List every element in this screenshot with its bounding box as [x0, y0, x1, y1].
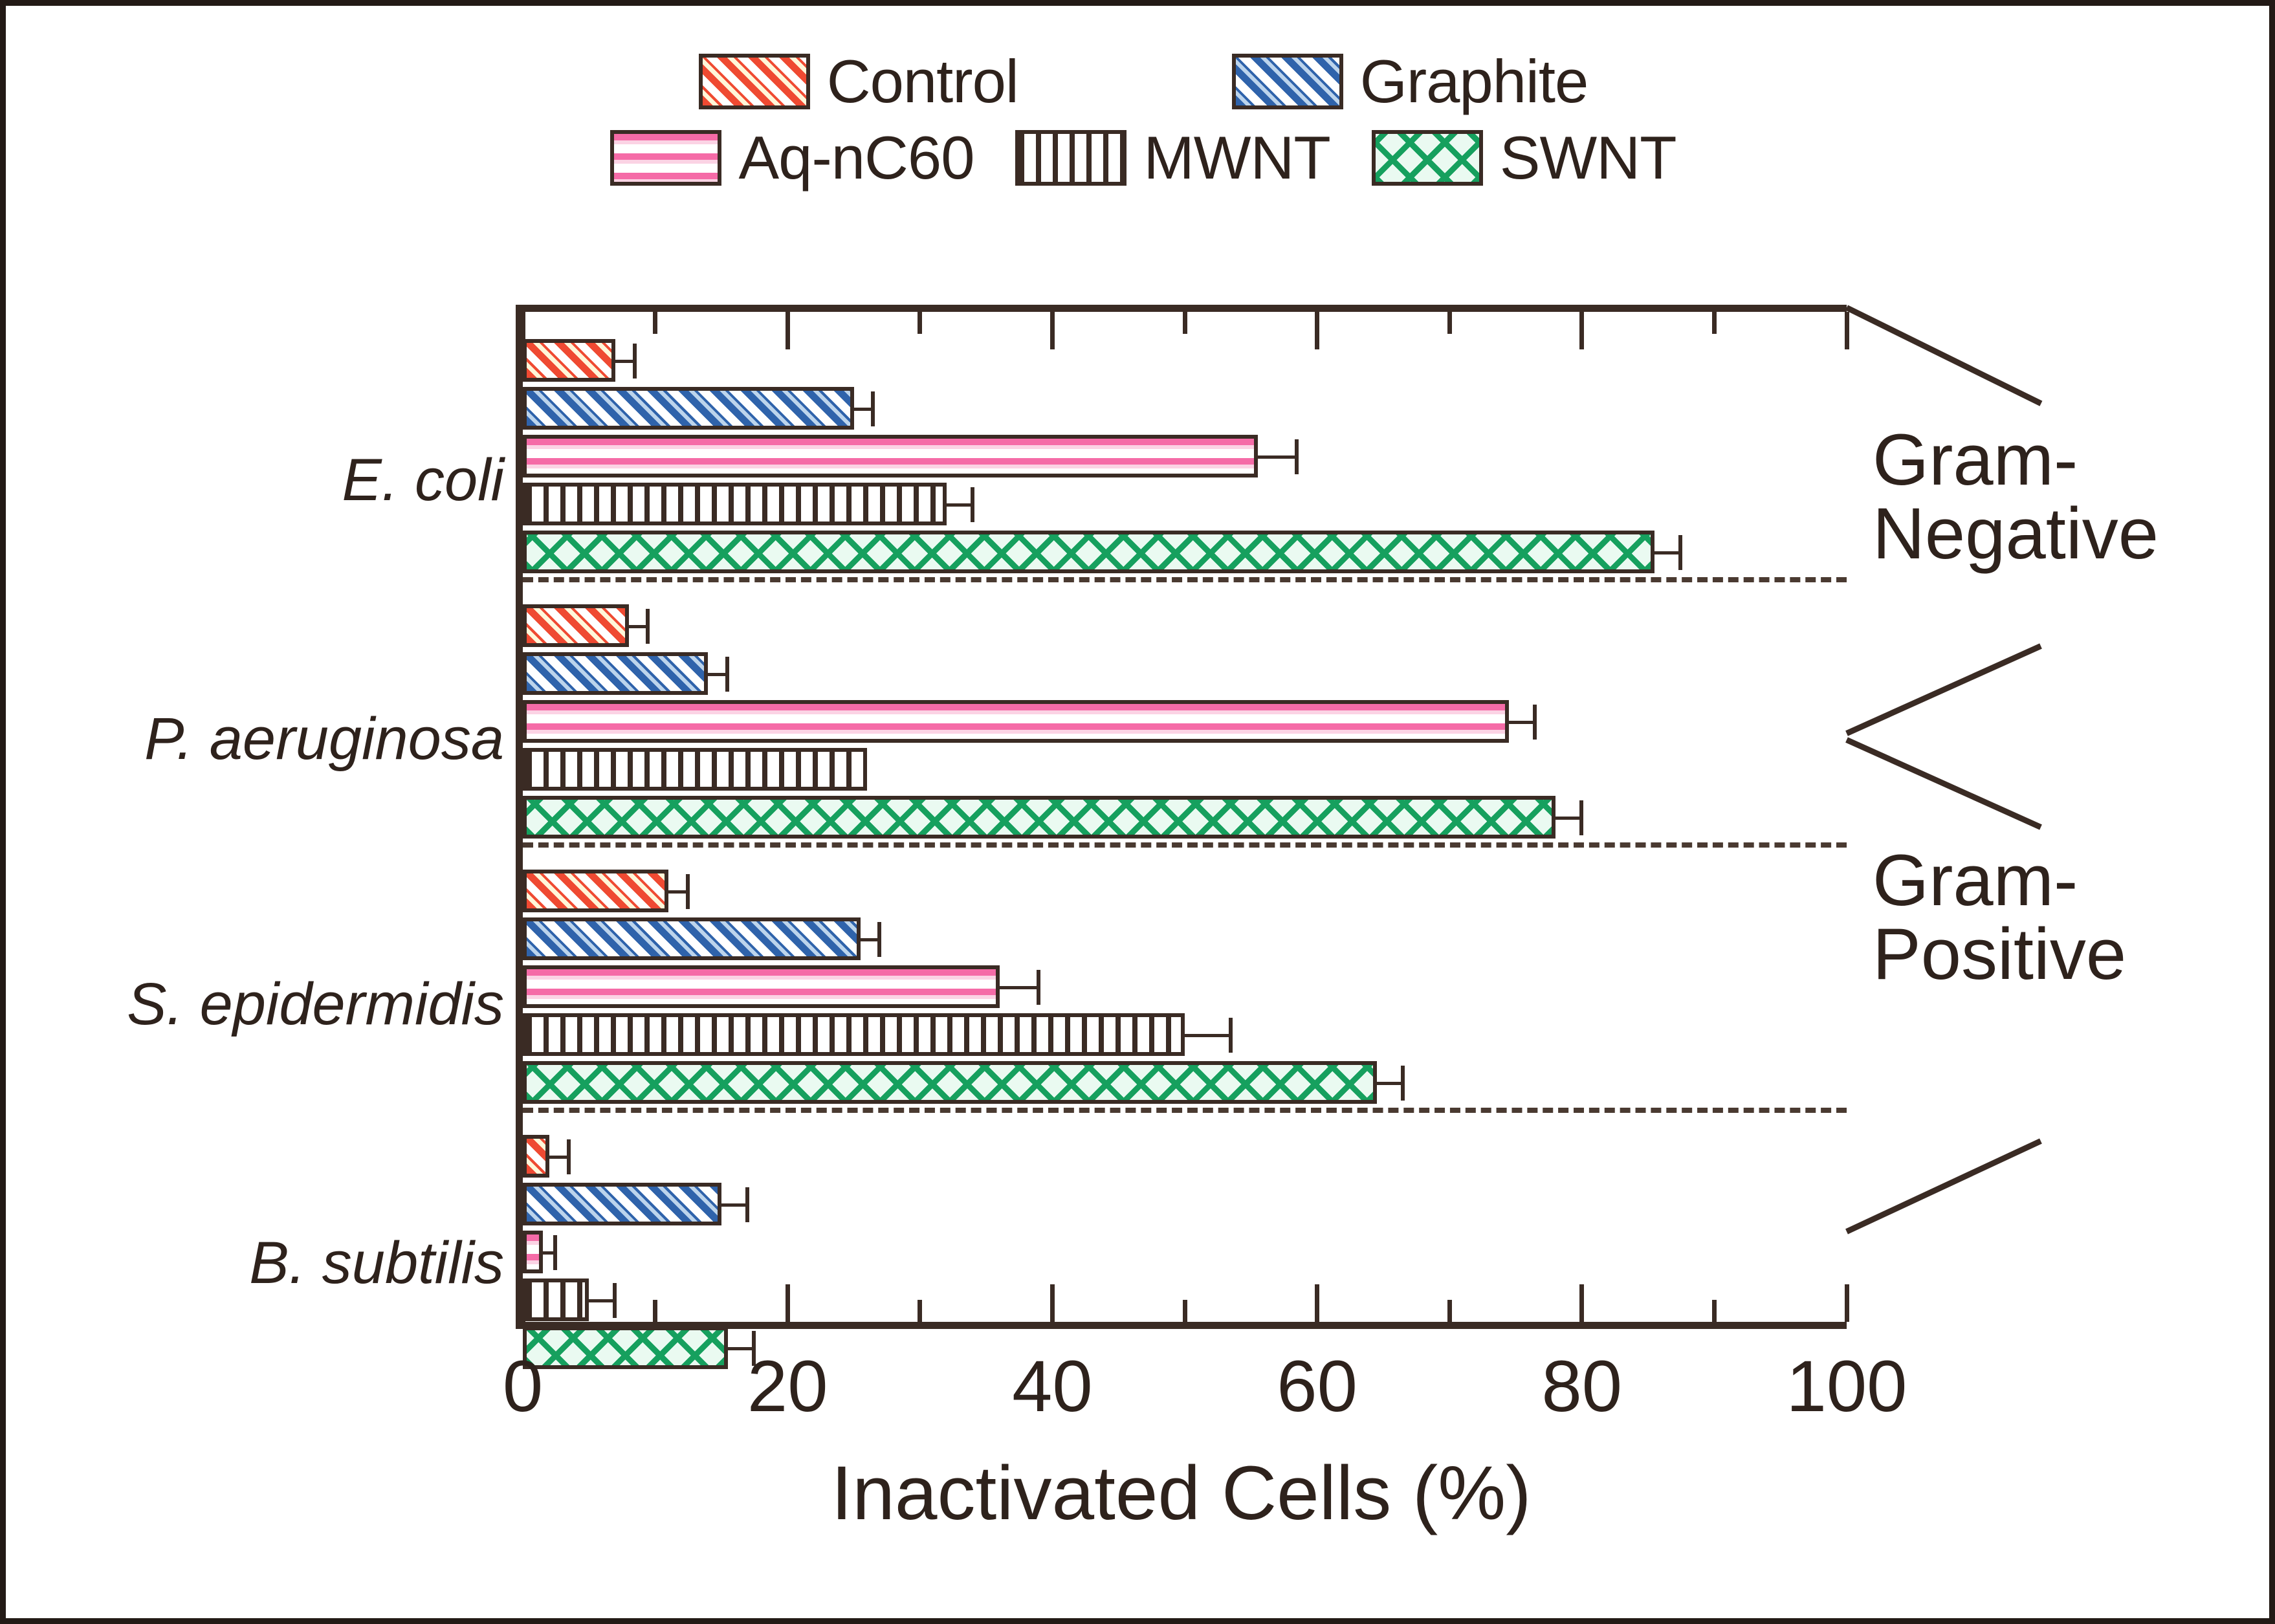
error-bar-line — [705, 673, 725, 676]
legend-swatch-mwnt-icon — [1015, 130, 1127, 186]
bar-group-e-coli — [523, 336, 1847, 576]
bar-graphite — [523, 652, 708, 695]
brace-line-gram-negative-upper — [1845, 305, 2042, 406]
legend-row-2: Aq-nC60 MWNT SWNT — [6, 127, 2275, 188]
legend-label-graphite: Graphite — [1360, 51, 1588, 112]
bar-group-s-epidermidis — [523, 867, 1847, 1106]
legend-item-swnt: SWNT — [1372, 127, 1676, 188]
gram-group-braces: Gram-Negative Gram-Positive — [1847, 291, 2274, 1339]
bar-row — [523, 384, 1847, 432]
x-axis-title: Inactivated Cells (%) — [516, 1455, 1847, 1531]
legend-label-control: Control — [827, 51, 1018, 112]
brace-line-gram-positive-upper — [1845, 737, 2042, 829]
y-label-b-subtilis: B. subtilis — [249, 1233, 504, 1293]
legend-item-graphite: Graphite — [1232, 51, 1588, 112]
error-bar-cap — [553, 1235, 557, 1270]
legend-item-aq-nc60: Aq-nC60 — [610, 127, 974, 188]
gram-negative-line1: Gram- — [1873, 419, 2078, 500]
y-axis-labels: E. coliP. aeruginosaS. epidermidisB. sub… — [6, 305, 504, 1329]
error-bar-cap — [1401, 1066, 1405, 1101]
plot-inner — [523, 312, 1847, 1322]
bar-row — [523, 336, 1847, 384]
bar-group-p-aeruginosa — [523, 602, 1847, 841]
error-bar-line — [586, 1299, 613, 1302]
y-label-e-coli: E. coli — [342, 450, 504, 510]
x-tick-top-10 — [653, 312, 657, 334]
legend-swatch-graphite-icon — [1232, 54, 1343, 109]
bar-row — [523, 915, 1847, 963]
bar-mwnt — [523, 748, 867, 791]
error-bar-line — [858, 938, 878, 941]
error-bar-cap — [745, 1187, 749, 1222]
bar-swnt — [523, 796, 1555, 839]
x-axis-tick-labels: 020406080100 — [516, 1350, 1847, 1428]
legend-item-mwnt: MWNT — [1015, 127, 1330, 188]
bar-row — [523, 1059, 1847, 1106]
error-bar-cap — [686, 874, 690, 909]
bar-graphite — [523, 387, 854, 430]
x-tick-label-60: 60 — [1277, 1350, 1357, 1423]
error-bar-line — [547, 1156, 567, 1159]
legend-label-swnt: SWNT — [1500, 127, 1676, 188]
bar-mwnt — [523, 1278, 589, 1321]
bar-row — [523, 697, 1847, 745]
error-bar-line — [997, 986, 1037, 989]
error-bar-line — [1374, 1082, 1401, 1085]
legend-swatch-aq-nc60-icon — [610, 130, 721, 186]
legend-label-aq-nc60: Aq-nC60 — [738, 127, 974, 188]
x-tick-top-50 — [1183, 312, 1187, 334]
error-bar-line — [852, 408, 872, 411]
error-bar-cap — [646, 609, 650, 644]
group-divider-0 — [523, 577, 1847, 582]
bar-row — [523, 602, 1847, 650]
gram-positive-line2: Positive — [1873, 914, 2126, 994]
bar-mwnt — [523, 1013, 1185, 1056]
bar-row — [523, 480, 1847, 528]
bar-graphite — [523, 917, 861, 960]
error-bar-line — [1506, 721, 1533, 724]
error-bar-cap — [1295, 439, 1299, 474]
bar-row — [523, 793, 1847, 841]
chart-legend: Control Graphite Aq-nC60 MWNT SWNT — [6, 51, 2275, 188]
error-bar-line — [666, 890, 686, 894]
error-bar-line — [540, 1251, 553, 1255]
error-bar-line — [1652, 551, 1678, 554]
legend-row-1: Control Graphite — [6, 51, 2275, 112]
legend-swatch-control-icon — [699, 54, 810, 109]
legend-item-control: Control — [699, 51, 1018, 112]
bar-row — [523, 1132, 1847, 1180]
bar-graphite — [523, 1183, 721, 1225]
x-tick-label-20: 20 — [747, 1350, 828, 1423]
bar-row — [523, 528, 1847, 576]
x-tick-top-90 — [1712, 312, 1717, 334]
bar-control — [523, 339, 615, 382]
x-tick-label-0: 0 — [503, 1350, 543, 1423]
bar-mwnt — [523, 483, 947, 525]
gram-positive-label: Gram-Positive — [1873, 844, 2126, 991]
gram-positive-line1: Gram- — [1873, 840, 2078, 921]
x-tick-label-40: 40 — [1012, 1350, 1093, 1423]
error-bar-cap — [1229, 1018, 1233, 1053]
bar-row — [523, 1228, 1847, 1276]
error-bar-cap — [1037, 970, 1040, 1005]
x-tick-label-80: 80 — [1542, 1350, 1623, 1423]
x-tick-label-100: 100 — [1786, 1350, 1907, 1423]
plot-area — [516, 305, 1847, 1329]
error-bar-line — [719, 1203, 745, 1207]
x-tick-top-70 — [1447, 312, 1452, 334]
y-label-p-aeruginosa: P. aeruginosa — [144, 709, 504, 769]
error-bar-cap — [877, 922, 881, 957]
bar-control — [523, 1135, 549, 1178]
group-divider-2 — [523, 1108, 1847, 1113]
y-label-s-epidermidis: S. epidermidis — [127, 974, 504, 1034]
error-bar-line — [613, 360, 633, 363]
bar-row — [523, 650, 1847, 697]
error-bar-cap — [1678, 535, 1682, 570]
bar-group-b-subtilis — [523, 1132, 1847, 1372]
error-bar-line — [1182, 1034, 1229, 1037]
error-bar-cap — [1533, 705, 1537, 740]
bar-row — [523, 963, 1847, 1011]
x-tick-top-30 — [918, 312, 922, 334]
gram-negative-line2: Negative — [1873, 493, 2159, 574]
bar-row — [523, 867, 1847, 915]
bar-row — [523, 745, 1847, 793]
error-bar-line — [626, 625, 646, 628]
brace-line-gram-negative-lower — [1845, 643, 2042, 736]
error-bar-line — [1255, 455, 1295, 459]
bar-row — [523, 1180, 1847, 1228]
error-bar-cap — [567, 1139, 571, 1174]
bar-swnt — [523, 1061, 1377, 1104]
error-bar-cap — [613, 1283, 617, 1318]
error-bar-cap — [971, 487, 974, 522]
error-bar-line — [1553, 817, 1579, 820]
bar-control — [523, 870, 668, 912]
error-bar-cap — [725, 657, 729, 692]
bar-aq-nc60 — [523, 435, 1258, 477]
error-bar-cap — [633, 344, 637, 379]
bar-aq-nc60 — [523, 700, 1509, 743]
error-bar-line — [944, 503, 971, 507]
gram-negative-label: Gram-Negative — [1873, 423, 2159, 571]
bar-swnt — [523, 531, 1654, 573]
bar-row — [523, 1011, 1847, 1059]
brace-line-gram-positive-lower — [1845, 1138, 2042, 1234]
bar-row — [523, 1276, 1847, 1324]
error-bar-cap — [871, 391, 875, 426]
bar-row — [523, 432, 1847, 480]
figure-root: Control Graphite Aq-nC60 MWNT SWNT E. co… — [0, 0, 2275, 1624]
error-bar-cap — [1579, 800, 1583, 835]
bar-control — [523, 604, 629, 647]
legend-swatch-swnt-icon — [1372, 130, 1483, 186]
group-divider-1 — [523, 842, 1847, 848]
bar-aq-nc60 — [523, 965, 1000, 1008]
legend-label-mwnt: MWNT — [1143, 127, 1330, 188]
